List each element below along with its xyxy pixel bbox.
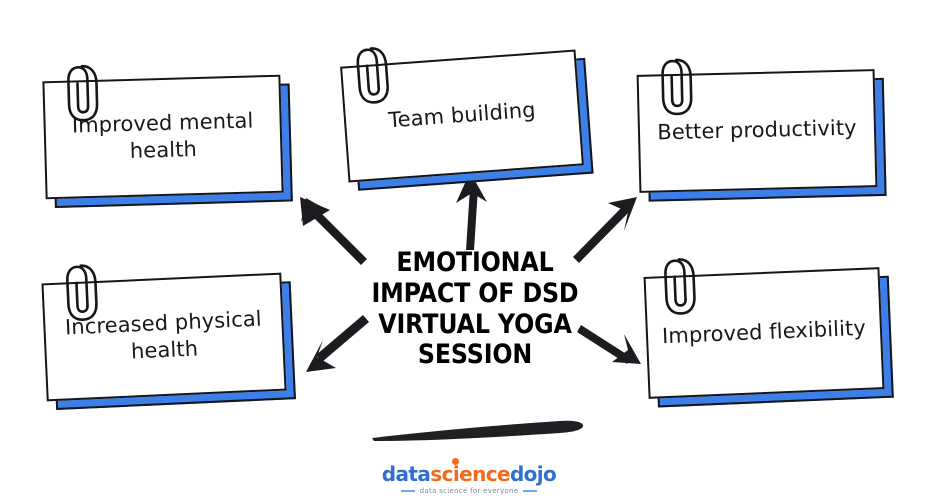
title-underline-icon	[372, 421, 583, 441]
arrow-to-improved-mental-health-icon	[300, 197, 367, 265]
card-better-productivity[interactable]: Better productivity	[637, 69, 878, 193]
logo-word-dojo: dojo	[510, 462, 556, 486]
card-increased-physical-health[interactable]: Increased physical health	[41, 273, 286, 402]
card-sheet: Better productivity	[637, 69, 878, 193]
logo-rule-left-icon	[401, 490, 415, 492]
card-label: Improved flexibility	[648, 315, 881, 352]
arrow-to-better-productivity-icon	[573, 197, 637, 263]
logo-tagline-row: data science for everyone	[0, 487, 938, 495]
card-improved-mental-health[interactable]: Improved mental health	[42, 75, 283, 200]
card-sheet: Team building	[340, 50, 584, 183]
logo-tagline: data science for everyone	[420, 487, 519, 495]
arrow-to-increased-physical-health-icon	[306, 315, 369, 372]
logo-word-data: data	[382, 462, 430, 486]
infographic-canvas: Improved mental health Team building Bet…	[0, 0, 938, 504]
card-label: Improved mental health	[45, 106, 280, 167]
card-sheet: Improved flexibility	[644, 267, 885, 399]
card-team-building[interactable]: Team building	[340, 50, 584, 183]
card-sheet: Increased physical health	[41, 273, 286, 402]
card-improved-flexibility[interactable]: Improved flexibility	[644, 267, 885, 399]
arrow-to-team-building-icon	[456, 172, 487, 250]
logo-wordmark: datasciencedojo	[0, 462, 938, 486]
card-label: Better productivity	[643, 115, 871, 148]
arrow-to-improved-flexibility-icon	[577, 325, 641, 364]
logo-word-sc: sc	[430, 462, 453, 486]
logo-word-ence: ence	[459, 462, 510, 486]
datasciencedojo-logo: datasciencedojo data science for everyon…	[0, 462, 938, 495]
logo-rule-right-icon	[523, 490, 537, 492]
card-label: Team building	[373, 96, 550, 136]
card-label: Increased physical health	[45, 304, 283, 369]
card-sheet: Improved mental health	[42, 75, 283, 200]
center-title: EMOTIONAL IMPACT OF DSD VIRTUAL YOGA SES…	[369, 248, 580, 371]
